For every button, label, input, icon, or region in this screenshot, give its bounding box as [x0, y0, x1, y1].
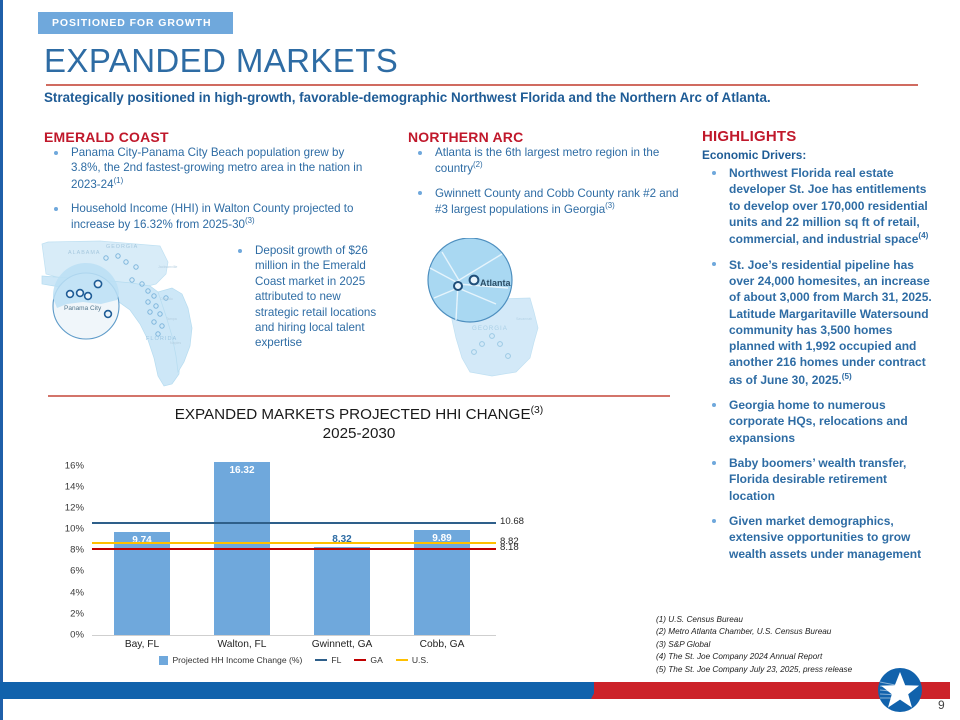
bullet-text: St. Joe’s residential pipeline has over …	[729, 258, 932, 387]
list-item: Given market demographics, extensive opp…	[702, 513, 932, 562]
list-item: Atlanta is the 6th largest metro region …	[408, 145, 683, 177]
chart-y-tick: 12%	[65, 502, 84, 513]
chart-reference-value: 10.68	[500, 516, 524, 527]
highlights-heading: HIGHLIGHTS	[702, 128, 797, 145]
legend-line-icon	[315, 659, 327, 661]
footnote-ref: (5)	[842, 372, 852, 381]
northern-arc-column: Atlanta is the 6th largest metro region …	[408, 145, 683, 226]
legend-label: Projected HH Income Change (%)	[172, 655, 302, 665]
footnote-ref: (4)	[918, 231, 928, 240]
list-item: St. Joe’s residential pipeline has over …	[702, 257, 932, 389]
svg-text:Tampa: Tampa	[166, 317, 177, 321]
legend-line-icon	[396, 659, 408, 661]
bullet-text: Household Income (HHI) in Walton County …	[71, 202, 353, 231]
page-title: EXPANDED MARKETS	[44, 42, 398, 80]
list-item: Household Income (HHI) in Walton County …	[44, 201, 364, 233]
list-item: Northwest Florida real estate developer …	[702, 165, 932, 248]
list-item: Baby boomers’ wealth transfer, Florida d…	[702, 455, 932, 504]
legend-item-line: GA	[354, 655, 382, 665]
chart-bar	[414, 530, 470, 635]
chart-y-tick: 2%	[70, 608, 84, 619]
svg-text:GEORGIA: GEORGIA	[106, 244, 138, 250]
chart-bar	[114, 532, 170, 635]
svg-text:Naples: Naples	[170, 341, 181, 345]
chart-title-ref: (3)	[531, 405, 544, 416]
list-item: Panama City-Panama City Beach population…	[44, 145, 364, 192]
legend-label: GA	[370, 655, 382, 665]
legend-item-line: FL	[315, 655, 341, 665]
chart-legend: Projected HH Income Change (%)FLGAU.S.	[92, 655, 496, 665]
legend-line-icon	[354, 659, 366, 661]
chart-reference-value: 8.18	[500, 542, 519, 553]
chart-divider	[48, 395, 670, 397]
footnote-ref: (1)	[114, 176, 124, 185]
chart-bar	[314, 547, 370, 635]
map-city-label: Atlanta	[480, 278, 511, 288]
chart-x-axis-line	[92, 635, 496, 636]
chart-plot-area: 0%2%4%6%8%10%12%14%16% 9.7416.328.329.89…	[48, 455, 670, 635]
georgia-map: GEORGIA Savannah Atlanta	[412, 238, 577, 388]
chart-y-axis: 0%2%4%6%8%10%12%14%16%	[48, 455, 88, 635]
chart-y-tick: 16%	[65, 460, 84, 471]
page-number: 9	[938, 698, 945, 712]
footer-bar-blue	[0, 682, 600, 699]
legend-item-line: U.S.	[396, 655, 429, 665]
footnote-line: (3) S&P Global	[656, 639, 956, 651]
footnote-ref: (2)	[473, 160, 483, 169]
svg-text:ALABAMA: ALABAMA	[68, 250, 100, 256]
chart-title: EXPANDED MARKETS PROJECTED HHI CHANGE(3)…	[48, 405, 670, 443]
florida-map: Panama City ALABAMA GEORGIA FLORIDA Jack…	[40, 236, 230, 391]
bullet-text: Given market demographics, extensive opp…	[729, 514, 921, 561]
list-item: Georgia home to numerous corporate HQs, …	[702, 397, 932, 446]
chart-y-tick: 14%	[65, 481, 84, 492]
northern-arc-heading: NORTHERN ARC	[408, 129, 523, 145]
list-item: Deposit growth of $26 million in the Eme…	[228, 243, 378, 351]
svg-text:GEORGIA: GEORGIA	[472, 325, 508, 332]
bullet-text: Northwest Florida real estate developer …	[729, 166, 928, 246]
emerald-coast-heading: EMERALD COAST	[44, 129, 169, 145]
footnote-line: (1) U.S. Census Bureau	[656, 614, 956, 626]
page-subtitle: Strategically positioned in high-growth,…	[44, 90, 924, 105]
chart-x-tick: Cobb, GA	[392, 639, 492, 650]
deposit-callout: Deposit growth of $26 million in the Eme…	[228, 243, 378, 360]
highlights-subheading: Economic Drivers:	[702, 148, 806, 162]
chart-y-tick: 4%	[70, 587, 84, 598]
company-logo	[872, 662, 928, 718]
svg-text:Savannah: Savannah	[516, 317, 532, 321]
chart-title-main: EXPANDED MARKETS PROJECTED HHI CHANGE	[175, 406, 531, 423]
chart-x-tick: Gwinnett, GA	[292, 639, 392, 650]
left-accent-rule	[0, 0, 3, 720]
chart-y-tick: 0%	[70, 630, 84, 641]
footnote-ref: (3)	[245, 216, 255, 225]
svg-text:Jacksonville: Jacksonville	[158, 265, 177, 269]
map-city-label: Panama City	[64, 305, 102, 312]
bullet-text: Baby boomers’ wealth transfer, Florida d…	[729, 456, 906, 503]
legend-label: FL	[331, 655, 341, 665]
chart-bar-value: 16.32	[214, 465, 270, 476]
chart-reference-line	[92, 522, 496, 524]
legend-swatch-icon	[159, 656, 168, 665]
section-ribbon: POSITIONED FOR GROWTH	[38, 12, 233, 34]
chart-x-tick: Walton, FL	[192, 639, 292, 650]
emerald-coast-column: Panama City-Panama City Beach population…	[44, 145, 364, 242]
chart-reference-line	[92, 542, 496, 544]
chart-y-tick: 6%	[70, 566, 84, 577]
bullet-text: Atlanta is the 6th largest metro region …	[435, 146, 659, 175]
legend-item-bars: Projected HH Income Change (%)	[159, 655, 302, 665]
slide: POSITIONED FOR GROWTH EXPANDED MARKETS S…	[0, 0, 960, 720]
chart-bar-value: 9.74	[114, 535, 170, 546]
bullet-text: Georgia home to numerous corporate HQs, …	[729, 398, 908, 445]
footnote-ref: (3)	[605, 201, 615, 210]
chart-y-tick: 8%	[70, 545, 84, 556]
hhi-chart: EXPANDED MARKETS PROJECTED HHI CHANGE(3)…	[48, 405, 670, 670]
chart-reference-line	[92, 548, 496, 550]
chart-title-subline: 2025-2030	[48, 424, 670, 443]
chart-x-tick: Bay, FL	[92, 639, 192, 650]
list-item: Gwinnett County and Cobb County rank #2 …	[408, 186, 683, 218]
svg-text:Orlando: Orlando	[160, 297, 173, 301]
bullet-text: Gwinnett County and Cobb County rank #2 …	[435, 187, 679, 216]
chart-bars-area: 9.7416.328.329.89	[92, 455, 492, 635]
chart-y-tick: 10%	[65, 524, 84, 535]
legend-label: U.S.	[412, 655, 429, 665]
footnote-line: (2) Metro Atlanta Chamber, U.S. Census B…	[656, 626, 956, 638]
highlights-column: Northwest Florida real estate developer …	[702, 165, 932, 571]
title-divider	[46, 84, 918, 86]
